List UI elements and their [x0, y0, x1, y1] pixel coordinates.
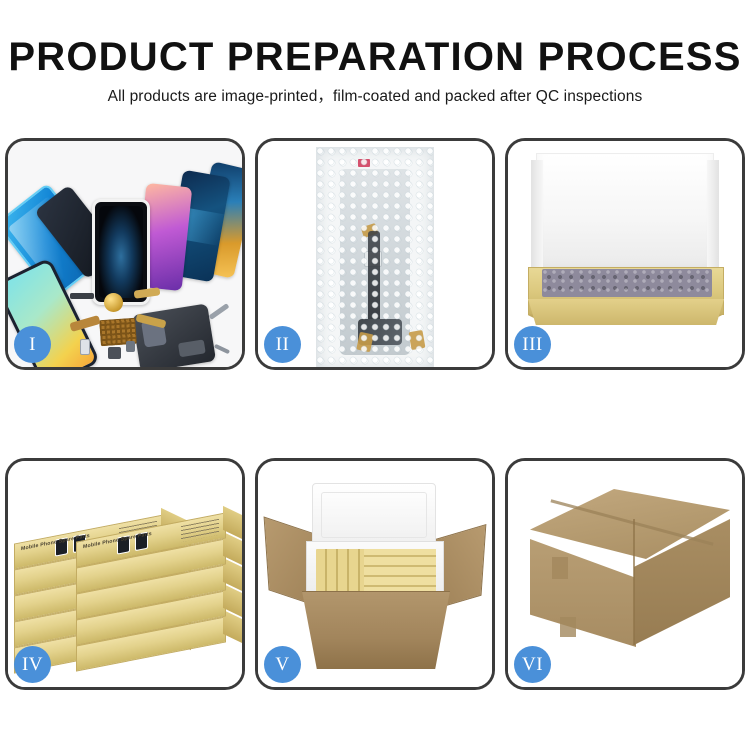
phone-back-housing	[132, 303, 216, 367]
process-step-panel-1[interactable]: I	[5, 138, 245, 370]
screen-flex-cable	[368, 231, 380, 339]
yellow-box-front	[528, 299, 724, 325]
header: PRODUCT PREPARATION PROCESS All products…	[0, 0, 750, 128]
step-badge-5: V	[264, 646, 301, 683]
grey-foam-padding	[542, 269, 712, 297]
process-step-panel-4[interactable]: Mobile Phone Spare Parts	[5, 458, 245, 690]
step-badge-1: I	[14, 326, 51, 363]
gold-contact-3	[409, 330, 426, 350]
yellow-boxes-row-2	[364, 549, 436, 595]
step-badge-3: III	[514, 326, 551, 363]
screwdriver-tool	[209, 303, 230, 320]
pink-qc-label	[358, 159, 370, 167]
white-foam-lid	[536, 153, 714, 275]
product-preparation-process-page: PRODUCT PREPARATION PROCESS All products…	[0, 0, 750, 750]
styrofoam-lid	[312, 483, 436, 549]
step-badge-2: II	[264, 326, 301, 363]
step-badge-4: IV	[14, 646, 51, 683]
gold-coil-part	[104, 293, 123, 312]
process-step-panel-6[interactable]: VI	[505, 458, 745, 690]
process-step-panel-5[interactable]: V	[255, 458, 495, 690]
small-part-2	[108, 347, 121, 359]
small-part-3	[126, 341, 135, 352]
process-step-panel-3[interactable]: III	[505, 138, 745, 370]
box-stack: Mobile Phone Spare Parts	[14, 481, 242, 681]
carton-front-face	[302, 591, 450, 669]
page-subtitle: All products are image-printed，film-coat…	[0, 84, 750, 106]
small-part-1	[80, 339, 90, 355]
earpiece-part	[70, 293, 94, 299]
carton-tab-2	[560, 617, 576, 637]
process-step-grid: I II	[5, 138, 745, 690]
process-step-panel-2[interactable]: II	[255, 138, 495, 370]
step-badge-6: VI	[514, 646, 551, 683]
carton-tab-1	[552, 557, 568, 579]
tweezers-tool	[214, 344, 230, 354]
carton-left-face	[530, 539, 636, 647]
page-title: PRODUCT PREPARATION PROCESS	[0, 36, 750, 78]
carton-corner-edge	[633, 519, 635, 645]
